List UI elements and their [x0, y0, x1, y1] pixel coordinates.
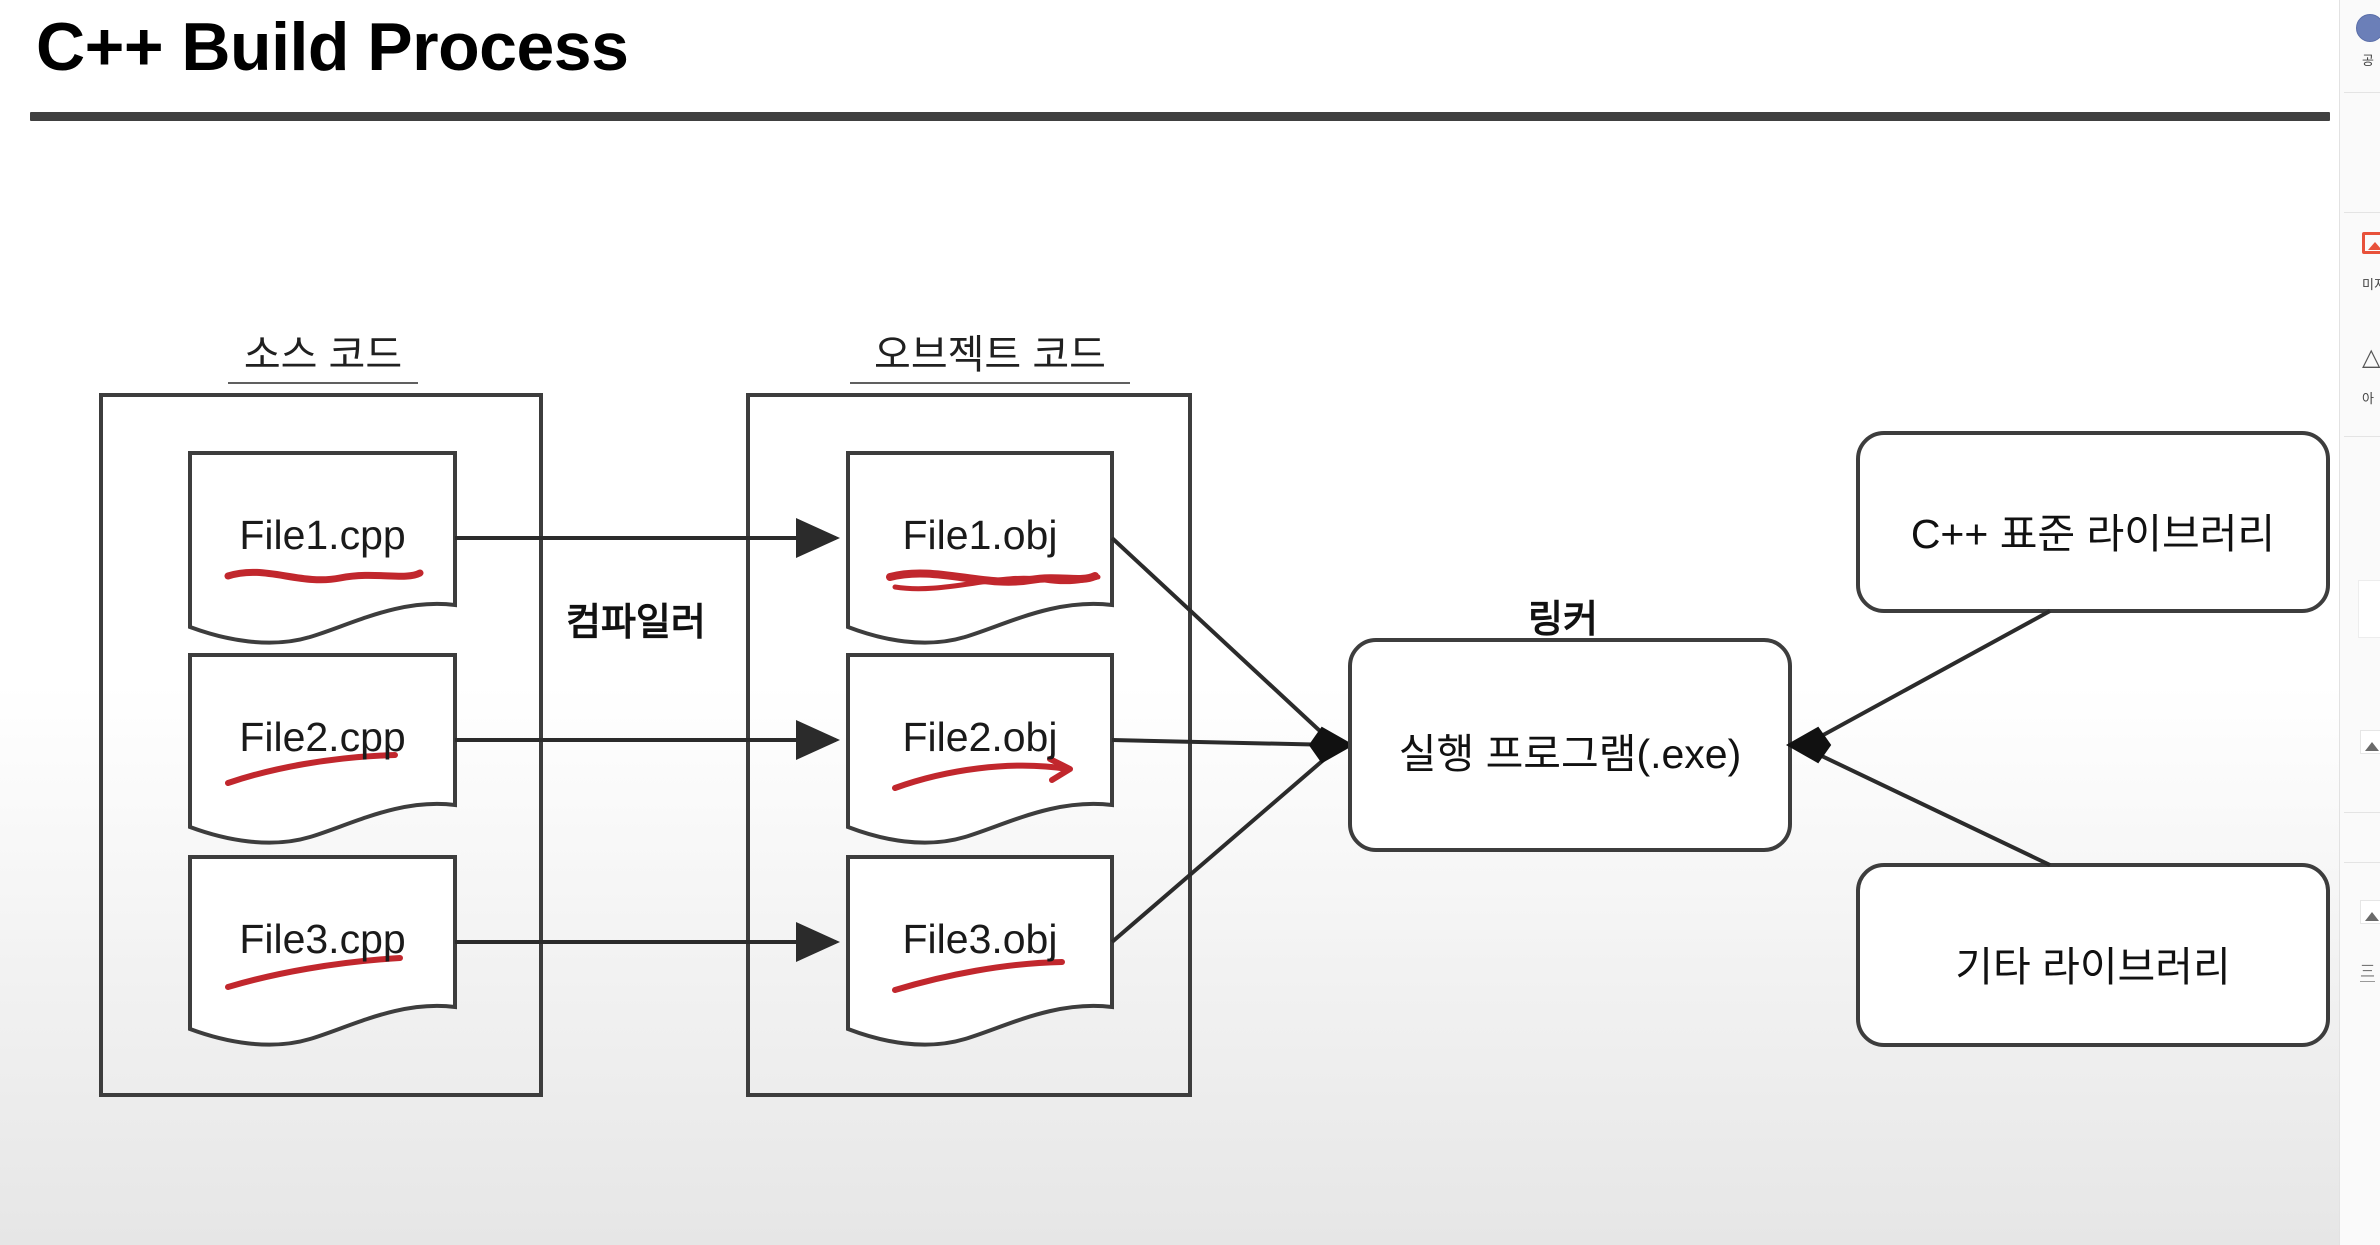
thumbnail-item[interactable] — [2358, 580, 2380, 638]
image-icon[interactable] — [2362, 232, 2380, 254]
stage-label-linker: 링커 — [1528, 588, 1598, 643]
std-library-label: C++ 표준 라이브러리 — [1858, 500, 2328, 560]
executable-label: 실행 프로그램(.exe) — [1350, 720, 1790, 780]
stage-label-compiler: 컴파일러 — [566, 591, 706, 646]
slide-header: C++ Build Process — [0, 0, 2340, 140]
object-file-label-1: File1.obj — [848, 512, 1112, 559]
other-library-label: 기타 라이브러리 — [1858, 933, 2328, 993]
rail-footer-text: 三 — [2360, 960, 2375, 982]
thumbnail-item[interactable] — [2360, 900, 2380, 924]
image-label[interactable]: 미지 — [2362, 274, 2380, 293]
title-divider — [30, 112, 2330, 121]
link-line-2 — [1112, 740, 1335, 745]
diagram-vector-layer — [0, 140, 2340, 1245]
caption-object-code: 오브젝트 코드 — [850, 322, 1130, 384]
caption-source-code: 소스 코드 — [228, 322, 418, 384]
object-file-label-2: File2.obj — [848, 714, 1112, 761]
slide-canvas: C++ Build Process — [0, 0, 2340, 1245]
other-library-link-line — [1805, 748, 2050, 865]
source-file-label-2: File2.cpp — [190, 714, 455, 761]
rail-divider-4 — [2344, 812, 2380, 813]
link-line-3 — [1112, 750, 1335, 942]
rail-divider-1 — [2344, 92, 2380, 93]
share-label[interactable]: 공 — [2362, 50, 2374, 69]
thumbnail-item[interactable] — [2360, 730, 2380, 754]
link-line-1 — [1112, 538, 1335, 745]
link-arrowhead-left — [1310, 728, 1352, 762]
build-process-diagram: 소스 코드 오브젝트 코드 컴파일러 링커 File1.cpp File2.cp… — [0, 140, 2340, 1245]
rail-divider-2 — [2344, 212, 2380, 213]
rail-divider-3 — [2344, 436, 2380, 437]
rail-divider-5 — [2344, 862, 2380, 863]
right-sidebar[interactable]: 공 미지 △ 아 三 — [2339, 0, 2380, 1245]
drive-icon[interactable]: △ — [2362, 346, 2380, 370]
object-file-label-3: File3.obj — [848, 916, 1112, 963]
source-file-label-3: File3.cpp — [190, 916, 455, 963]
std-library-link-line — [1805, 611, 2050, 745]
user-avatar[interactable] — [2356, 14, 2380, 42]
drive-label[interactable]: 아 — [2362, 388, 2374, 407]
page-title: C++ Build Process — [36, 8, 628, 86]
source-file-label-1: File1.cpp — [190, 512, 455, 559]
